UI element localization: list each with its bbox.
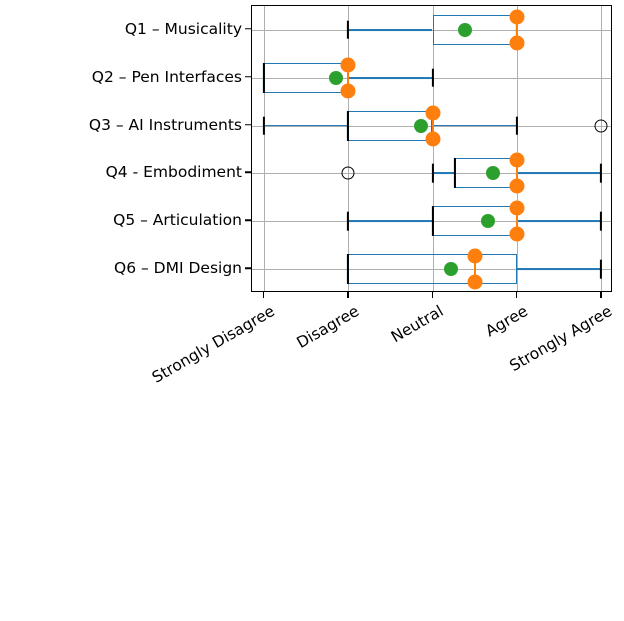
x-axis-tick-label: Neutral	[59, 302, 447, 536]
whisker-cap-high	[516, 116, 518, 135]
median-line	[454, 158, 456, 188]
quartile-marker-dot	[509, 35, 524, 50]
quartile-marker-dot	[467, 249, 482, 264]
mean-marker-dot	[481, 214, 495, 228]
whisker-low	[348, 29, 432, 31]
y-axis-tick-label: Q2 – Pen Interfaces	[92, 68, 242, 86]
whisker-high	[517, 220, 601, 222]
whisker-cap-high	[600, 260, 602, 279]
quartile-marker-dot	[425, 105, 440, 120]
median-line	[347, 111, 349, 141]
mean-marker-dot	[486, 166, 500, 180]
whisker-cap-low	[347, 21, 349, 40]
gridline-vertical	[433, 6, 434, 291]
y-axis-tick-mark	[245, 76, 251, 78]
x-axis-tick-mark	[516, 292, 518, 298]
x-axis-tick-label: Disagree	[47, 302, 362, 494]
x-axis-tick-mark	[432, 292, 434, 298]
quartile-marker-dot	[509, 201, 524, 216]
whisker-low	[264, 125, 348, 127]
y-axis-tick-mark	[245, 28, 251, 30]
whisker-cap-low	[431, 164, 433, 183]
quartile-marker-dot	[509, 227, 524, 242]
y-axis-tick-label: Q1 – Musicality	[125, 20, 242, 38]
whisker-cap-low	[263, 116, 265, 135]
whisker-high	[433, 125, 517, 127]
x-axis-tick-mark	[600, 292, 602, 298]
quartile-marker-dot	[467, 275, 482, 290]
plot-axes	[251, 5, 612, 292]
quartile-marker-dot	[341, 57, 356, 72]
mean-marker-dot	[414, 119, 428, 133]
y-axis-tick-label: Q4 - Embodiment	[106, 163, 242, 181]
whisker-cap-low	[347, 212, 349, 231]
gridline-vertical	[348, 6, 349, 291]
quartile-marker-dot	[341, 83, 356, 98]
gridline-vertical	[264, 6, 265, 291]
whisker-cap-high	[431, 69, 433, 88]
median-line	[263, 63, 265, 93]
y-axis-tick-mark	[245, 267, 251, 269]
y-axis-tick-mark	[245, 172, 251, 174]
quartile-marker-dot	[509, 153, 524, 168]
quartile-marker-dot	[509, 9, 524, 24]
y-axis-tick-mark	[245, 220, 251, 222]
box-iqr	[433, 206, 517, 236]
quartile-marker-dot	[425, 131, 440, 146]
whisker-high	[348, 77, 432, 79]
whisker-cap-high	[600, 212, 602, 231]
gridline-vertical	[601, 6, 602, 291]
mean-marker-dot	[444, 262, 458, 276]
outlier-marker	[342, 167, 355, 180]
whisker-cap-high	[600, 164, 602, 183]
outlier-marker	[595, 119, 608, 132]
y-axis-tick-label: Q6 – DMI Design	[114, 259, 242, 277]
mean-marker-dot	[329, 71, 343, 85]
mean-marker-dot	[458, 23, 472, 37]
whisker-low	[433, 172, 456, 174]
whisker-high	[517, 172, 601, 174]
y-axis-tick-mark	[245, 124, 251, 126]
median-line	[431, 206, 433, 236]
quartile-marker-dot	[509, 179, 524, 194]
x-axis-tick-mark	[263, 292, 265, 298]
x-axis-tick-mark	[347, 292, 349, 298]
box-iqr	[433, 15, 517, 45]
y-axis-tick-label: Q5 – Articulation	[113, 211, 242, 229]
box-iqr	[348, 254, 517, 284]
median-line	[347, 254, 349, 284]
whisker-low	[348, 220, 432, 222]
y-axis-tick-label: Q3 – AI Instruments	[89, 116, 242, 134]
boxplot-figure: Q1 – MusicalityQ2 – Pen InterfacesQ3 – A…	[0, 0, 624, 423]
whisker-high	[517, 268, 601, 270]
